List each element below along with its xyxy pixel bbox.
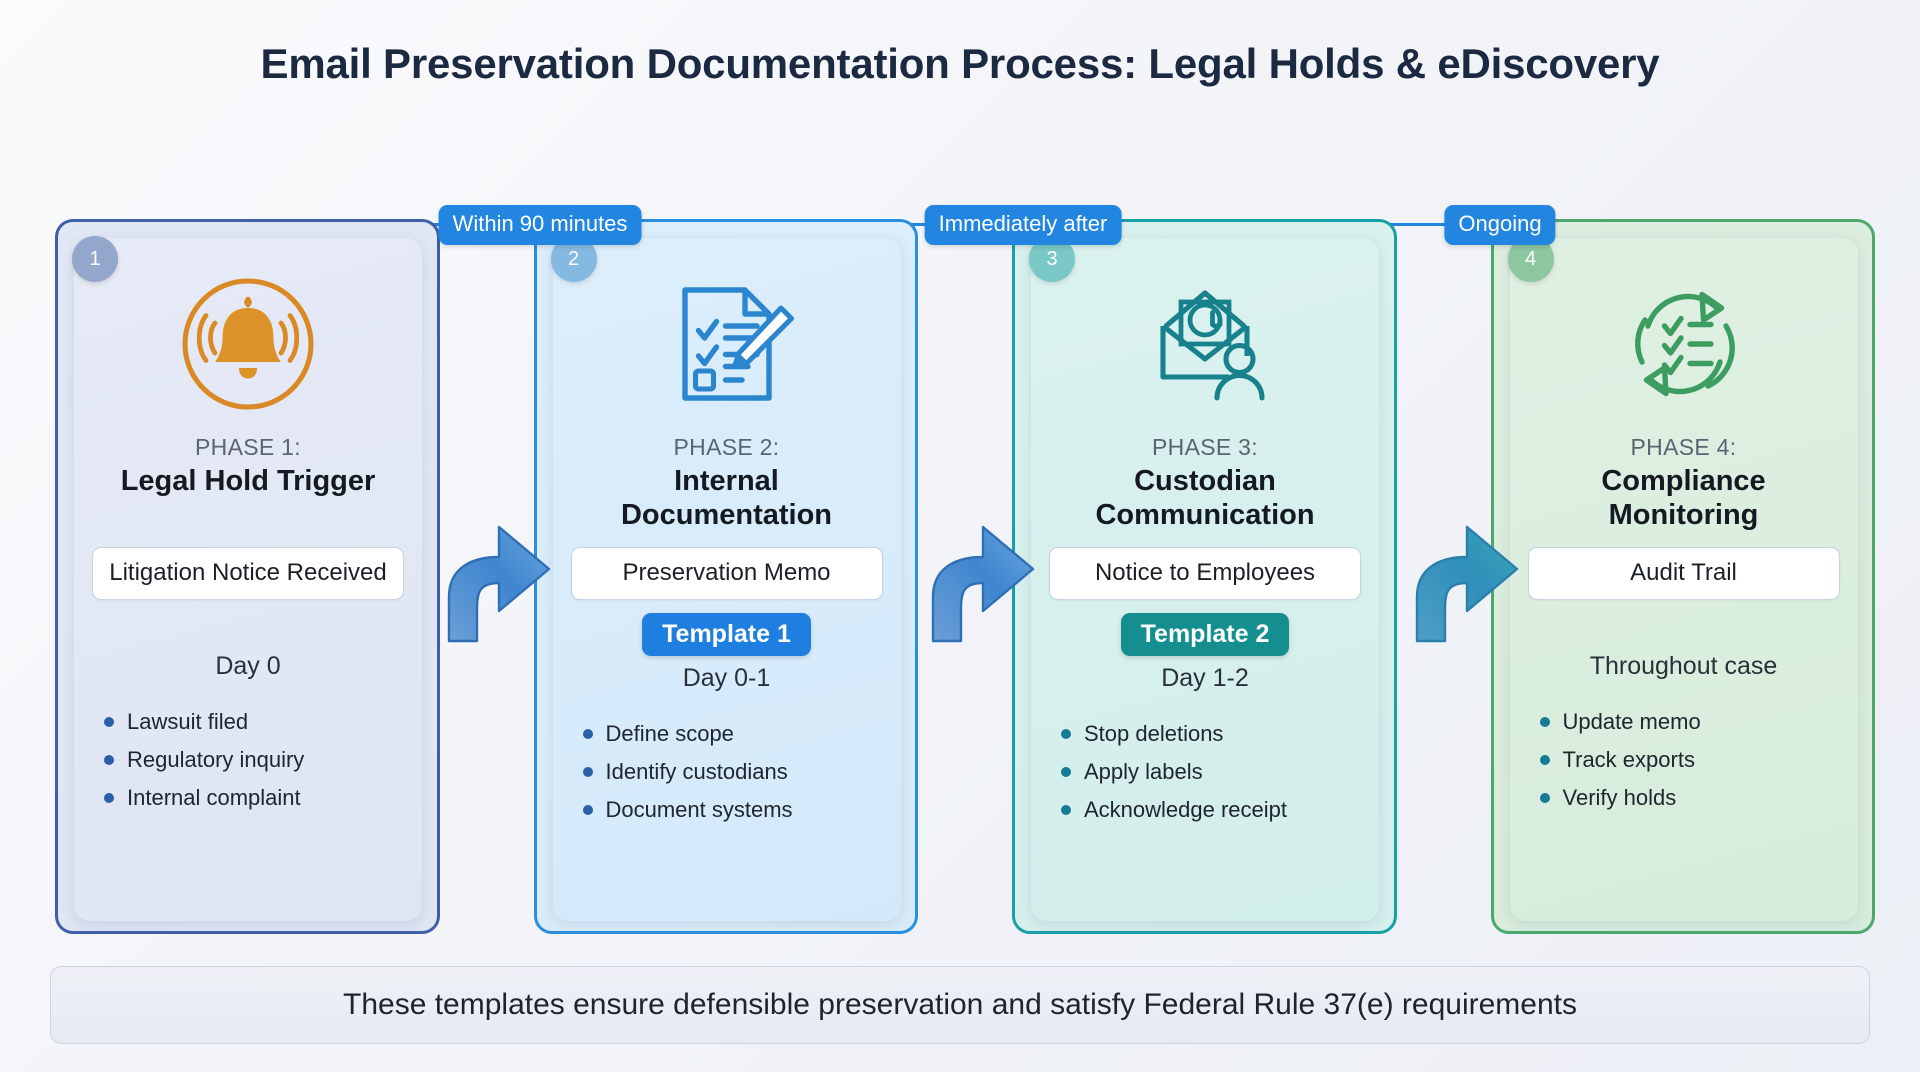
- compliance-cycle-checklist-icon: [1609, 260, 1759, 428]
- phase-frame-4[interactable]: 4 PHASE 4: C: [1491, 219, 1876, 934]
- list-item: Stop deletions: [1049, 715, 1361, 753]
- list-item: Verify holds: [1528, 779, 1840, 817]
- bullet-dot-icon: [1540, 717, 1550, 727]
- document-chip-1[interactable]: Litigation Notice Received: [92, 547, 404, 600]
- list-item: Acknowledge receipt: [1049, 791, 1361, 829]
- phase-label-4: PHASE 4:: [1631, 434, 1737, 461]
- bullet-label: Identify custodians: [606, 759, 788, 785]
- page-title: Email Preservation Documentation Process…: [0, 40, 1920, 88]
- phase-frame-2[interactable]: 2 PHASE 2: Internal Documentation: [534, 219, 919, 934]
- bullet-label: Document systems: [606, 797, 793, 823]
- phase-card-1[interactable]: 1 PHASE 1: Legal Hold Tri: [74, 238, 422, 921]
- bullet-dot-icon: [1540, 755, 1550, 765]
- bullet-label: Update memo: [1563, 709, 1701, 735]
- bullet-list-3: Stop deletions Apply labels Acknowledge …: [1049, 715, 1361, 829]
- email-custodian-icon: [1130, 260, 1280, 428]
- bullet-dot-icon: [1061, 767, 1071, 777]
- document-checklist-pencil-icon: [652, 260, 802, 428]
- document-chip-3[interactable]: Notice to Employees: [1049, 547, 1361, 600]
- bullet-label: Define scope: [606, 721, 734, 747]
- list-item: Track exports: [1528, 741, 1840, 779]
- list-item: Lawsuit filed: [92, 703, 404, 741]
- bullet-list-4: Update memo Track exports Verify holds: [1528, 703, 1840, 817]
- timing-text-1: Day 0: [215, 652, 280, 681]
- bullet-dot-icon: [1061, 805, 1071, 815]
- bullet-label: Internal complaint: [127, 785, 301, 811]
- arrow-phase2-to-phase3: [917, 493, 1039, 643]
- bullet-list-2: Define scope Identify custodians Documen…: [571, 715, 883, 829]
- timing-badge-3[interactable]: Ongoing: [1444, 205, 1555, 245]
- bullet-dot-icon: [104, 793, 114, 803]
- list-item: Identify custodians: [571, 753, 883, 791]
- phase-card-3[interactable]: 3 PHASE 3: Custodian Comm: [1031, 238, 1379, 921]
- bullet-label: Acknowledge receipt: [1084, 797, 1287, 823]
- bullet-dot-icon: [1540, 793, 1550, 803]
- list-item: Apply labels: [1049, 753, 1361, 791]
- bullet-label: Verify holds: [1563, 785, 1677, 811]
- process-flow-stage: 1 PHASE 1: Legal Hold Tri: [55, 205, 1875, 945]
- phase-frame-1[interactable]: 1 PHASE 1: Legal Hold Tri: [55, 219, 440, 934]
- arrow-phase3-to-phase4: [1401, 493, 1523, 643]
- phase-card-2[interactable]: 2 PHASE 2: Internal Documentation: [553, 238, 901, 921]
- template-badge-1[interactable]: Template 1: [642, 613, 811, 656]
- document-chip-2[interactable]: Preservation Memo: [571, 547, 883, 600]
- bullet-label: Regulatory inquiry: [127, 747, 304, 773]
- bullet-dot-icon: [104, 755, 114, 765]
- arrow-phase1-to-phase2: [433, 493, 555, 643]
- timing-badge-1[interactable]: Within 90 minutes: [439, 205, 642, 245]
- bullet-dot-icon: [1061, 729, 1071, 739]
- bullet-dot-icon: [583, 729, 593, 739]
- timing-text-2: Day 0-1: [683, 664, 771, 693]
- bullet-dot-icon: [583, 767, 593, 777]
- bullet-list-1: Lawsuit filed Regulatory inquiry Interna…: [92, 703, 404, 817]
- template-badge-2[interactable]: Template 2: [1121, 613, 1290, 656]
- list-item: Define scope: [571, 715, 883, 753]
- list-item: Update memo: [1528, 703, 1840, 741]
- phase-title-4: Compliance Monitoring: [1528, 465, 1840, 537]
- timing-text-4: Throughout case: [1590, 652, 1778, 681]
- phase-title-3: Custodian Communication: [1049, 465, 1361, 537]
- timing-text-3: Day 1-2: [1161, 664, 1249, 693]
- timing-badge-2[interactable]: Immediately after: [925, 205, 1122, 245]
- phase-label-2: PHASE 2:: [674, 434, 780, 461]
- document-chip-4[interactable]: Audit Trail: [1528, 547, 1840, 600]
- alert-bell-icon: [173, 260, 323, 428]
- bullet-dot-icon: [104, 717, 114, 727]
- step-number-1: 1: [72, 236, 118, 282]
- phase-frame-3[interactable]: 3 PHASE 3: Custodian Comm: [1012, 219, 1397, 934]
- phase-label-3: PHASE 3:: [1152, 434, 1258, 461]
- bullet-label: Apply labels: [1084, 759, 1203, 785]
- list-item: Regulatory inquiry: [92, 741, 404, 779]
- bullet-label: Lawsuit filed: [127, 709, 248, 735]
- phase-label-1: PHASE 1:: [195, 434, 301, 461]
- list-item: Internal complaint: [92, 779, 404, 817]
- footer-note: These templates ensure defensible preser…: [50, 966, 1870, 1044]
- phase-title-2: Internal Documentation: [571, 465, 883, 537]
- bullet-label: Track exports: [1563, 747, 1695, 773]
- bullet-label: Stop deletions: [1084, 721, 1223, 747]
- phase-card-4[interactable]: 4 PHASE 4: C: [1510, 238, 1858, 921]
- bullet-dot-icon: [583, 805, 593, 815]
- phase-title-1: Legal Hold Trigger: [121, 465, 376, 537]
- list-item: Document systems: [571, 791, 883, 829]
